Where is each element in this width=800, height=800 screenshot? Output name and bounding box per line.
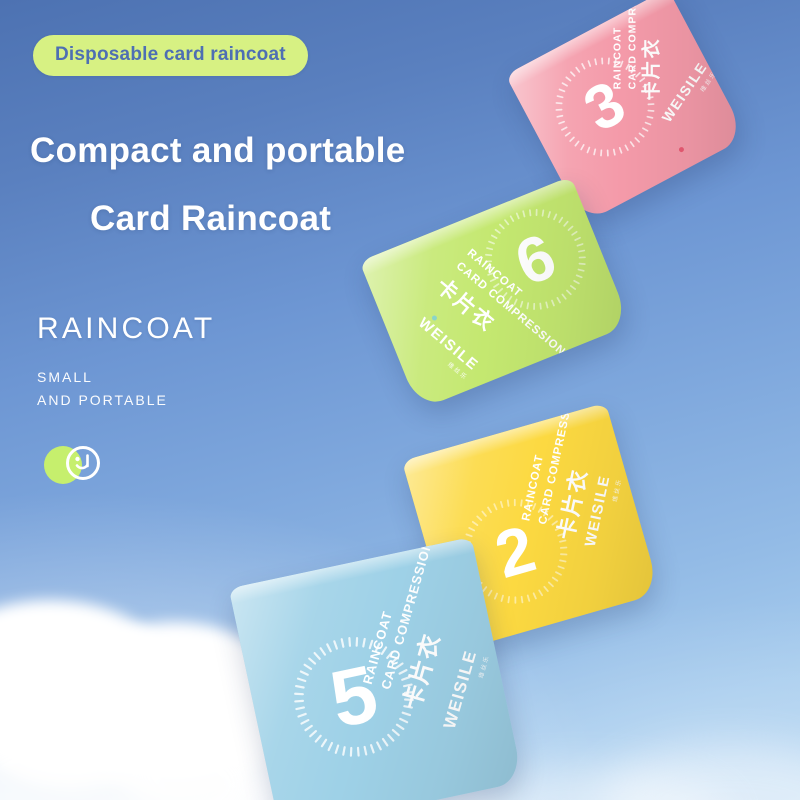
pouch-blue-face: 5 RAINCOAT CARD COMPRESSION 卡片衣 WEISILE … <box>229 537 524 800</box>
headline-line-1: Compact and portable <box>30 131 405 170</box>
lockup-word: RAINCOAT <box>37 314 215 344</box>
pouch-pink-label-cn: 卡片衣 <box>637 37 664 100</box>
pouch-pink-brand: WEISILE 维丝乐 <box>658 59 718 131</box>
pouch-pink-dot <box>678 146 685 153</box>
pouch-green-dot <box>431 315 438 322</box>
headline-line-2: Card Raincoat <box>90 201 405 236</box>
lockup-tag-line-2: AND PORTABLE <box>37 389 215 412</box>
product-poster: Disposable card raincoat Compact and por… <box>0 0 800 800</box>
pouch-blue-brand: WEISILE 维丝乐 <box>440 648 491 734</box>
smiley-face-icon <box>64 444 102 482</box>
lockup-tag-line-1: SMALL <box>37 366 215 389</box>
page-title: Compact and portable Card Raincoat <box>30 133 405 236</box>
pouch-blue: 5 RAINCOAT CARD COMPRESSION 卡片衣 WEISILE … <box>229 537 524 800</box>
pouch-pink-label-en-1: RAINCOAT <box>610 0 625 89</box>
lockup-tagline: SMALL AND PORTABLE <box>37 366 215 411</box>
smiley-logo <box>44 444 114 486</box>
brand-lockup: RAINCOAT SMALL AND PORTABLE <box>37 314 215 411</box>
badge-disposable-card-raincoat: Disposable card raincoat <box>33 35 308 76</box>
